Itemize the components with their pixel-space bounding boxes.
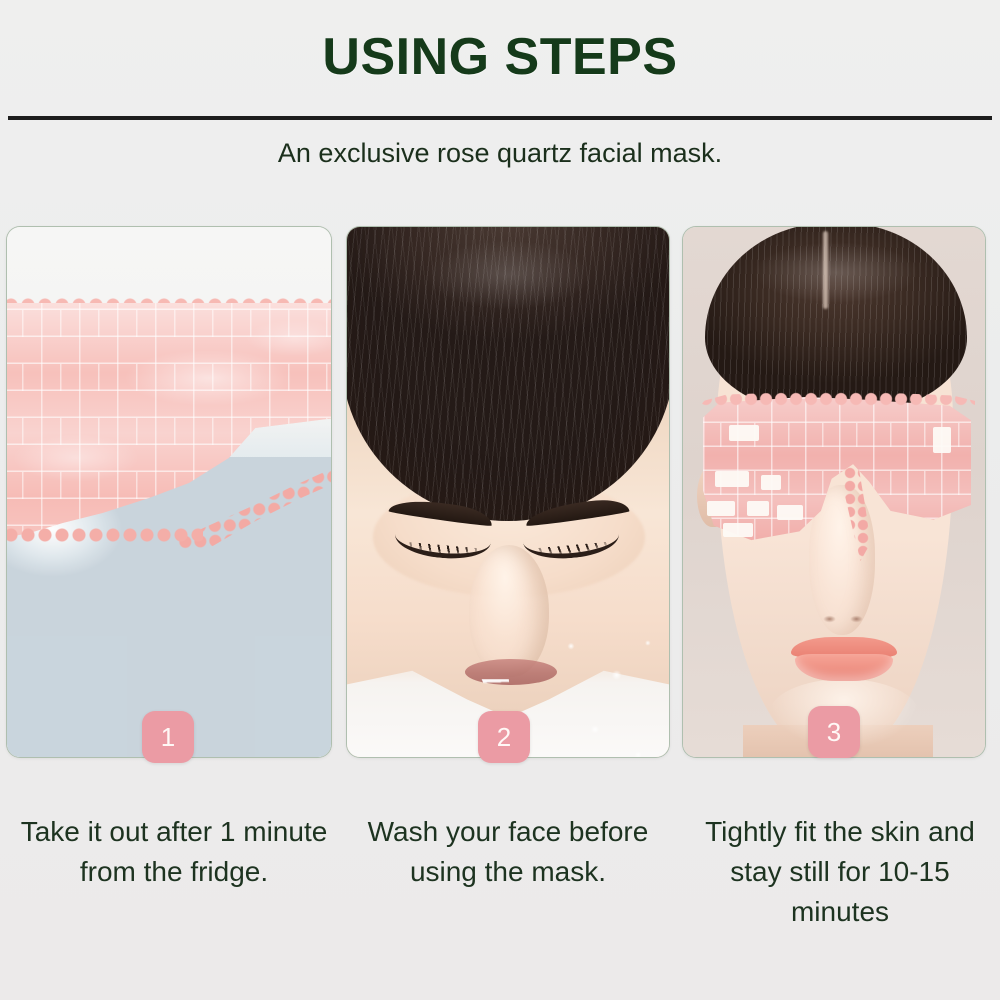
dark-hair (705, 227, 967, 413)
lit-tile (777, 505, 803, 520)
lit-tile (715, 471, 749, 487)
lit-tile (761, 475, 781, 490)
quartz-tile-highlights (703, 397, 971, 543)
dark-hair (347, 227, 669, 521)
page-root: USING STEPS An exclusive rose quartz fac… (0, 0, 1000, 1000)
lit-tile (933, 427, 951, 453)
lower-lip (795, 654, 893, 681)
page-title: USING STEPS (0, 30, 1000, 85)
nostrils (819, 613, 867, 625)
lit-tile (747, 501, 769, 516)
step-badge-3: 3 (808, 706, 860, 758)
eyelash-right (521, 515, 620, 562)
lit-tile (723, 523, 753, 537)
step-badge-2: 2 (478, 711, 530, 763)
eyelash-left (393, 515, 492, 562)
step-image-2 (346, 226, 670, 758)
header-divider (8, 116, 992, 120)
step-image-1 (6, 226, 332, 758)
water-droplets (547, 627, 667, 757)
lips (791, 637, 897, 681)
step-badge-1: 1 (142, 711, 194, 763)
nose (469, 545, 549, 677)
step-caption-1: Take it out after 1 minute from the frid… (14, 812, 334, 892)
quartz-bead-edge-bottom (7, 527, 203, 543)
page-subtitle: An exclusive rose quartz facial mask. (0, 138, 1000, 169)
hair-part (823, 231, 828, 309)
step-caption-2: Wash your face before using the mask. (348, 812, 668, 892)
step-image-3 (682, 226, 986, 758)
steps-gallery (0, 226, 1000, 766)
lit-tile (707, 501, 735, 516)
step-captions: Take it out after 1 minute from the frid… (0, 812, 1000, 992)
rose-quartz-eye-mask (703, 397, 971, 543)
lit-tile (729, 425, 759, 441)
lips (465, 659, 557, 685)
step-caption-3: Tightly fit the skin and stay still for … (690, 812, 990, 931)
